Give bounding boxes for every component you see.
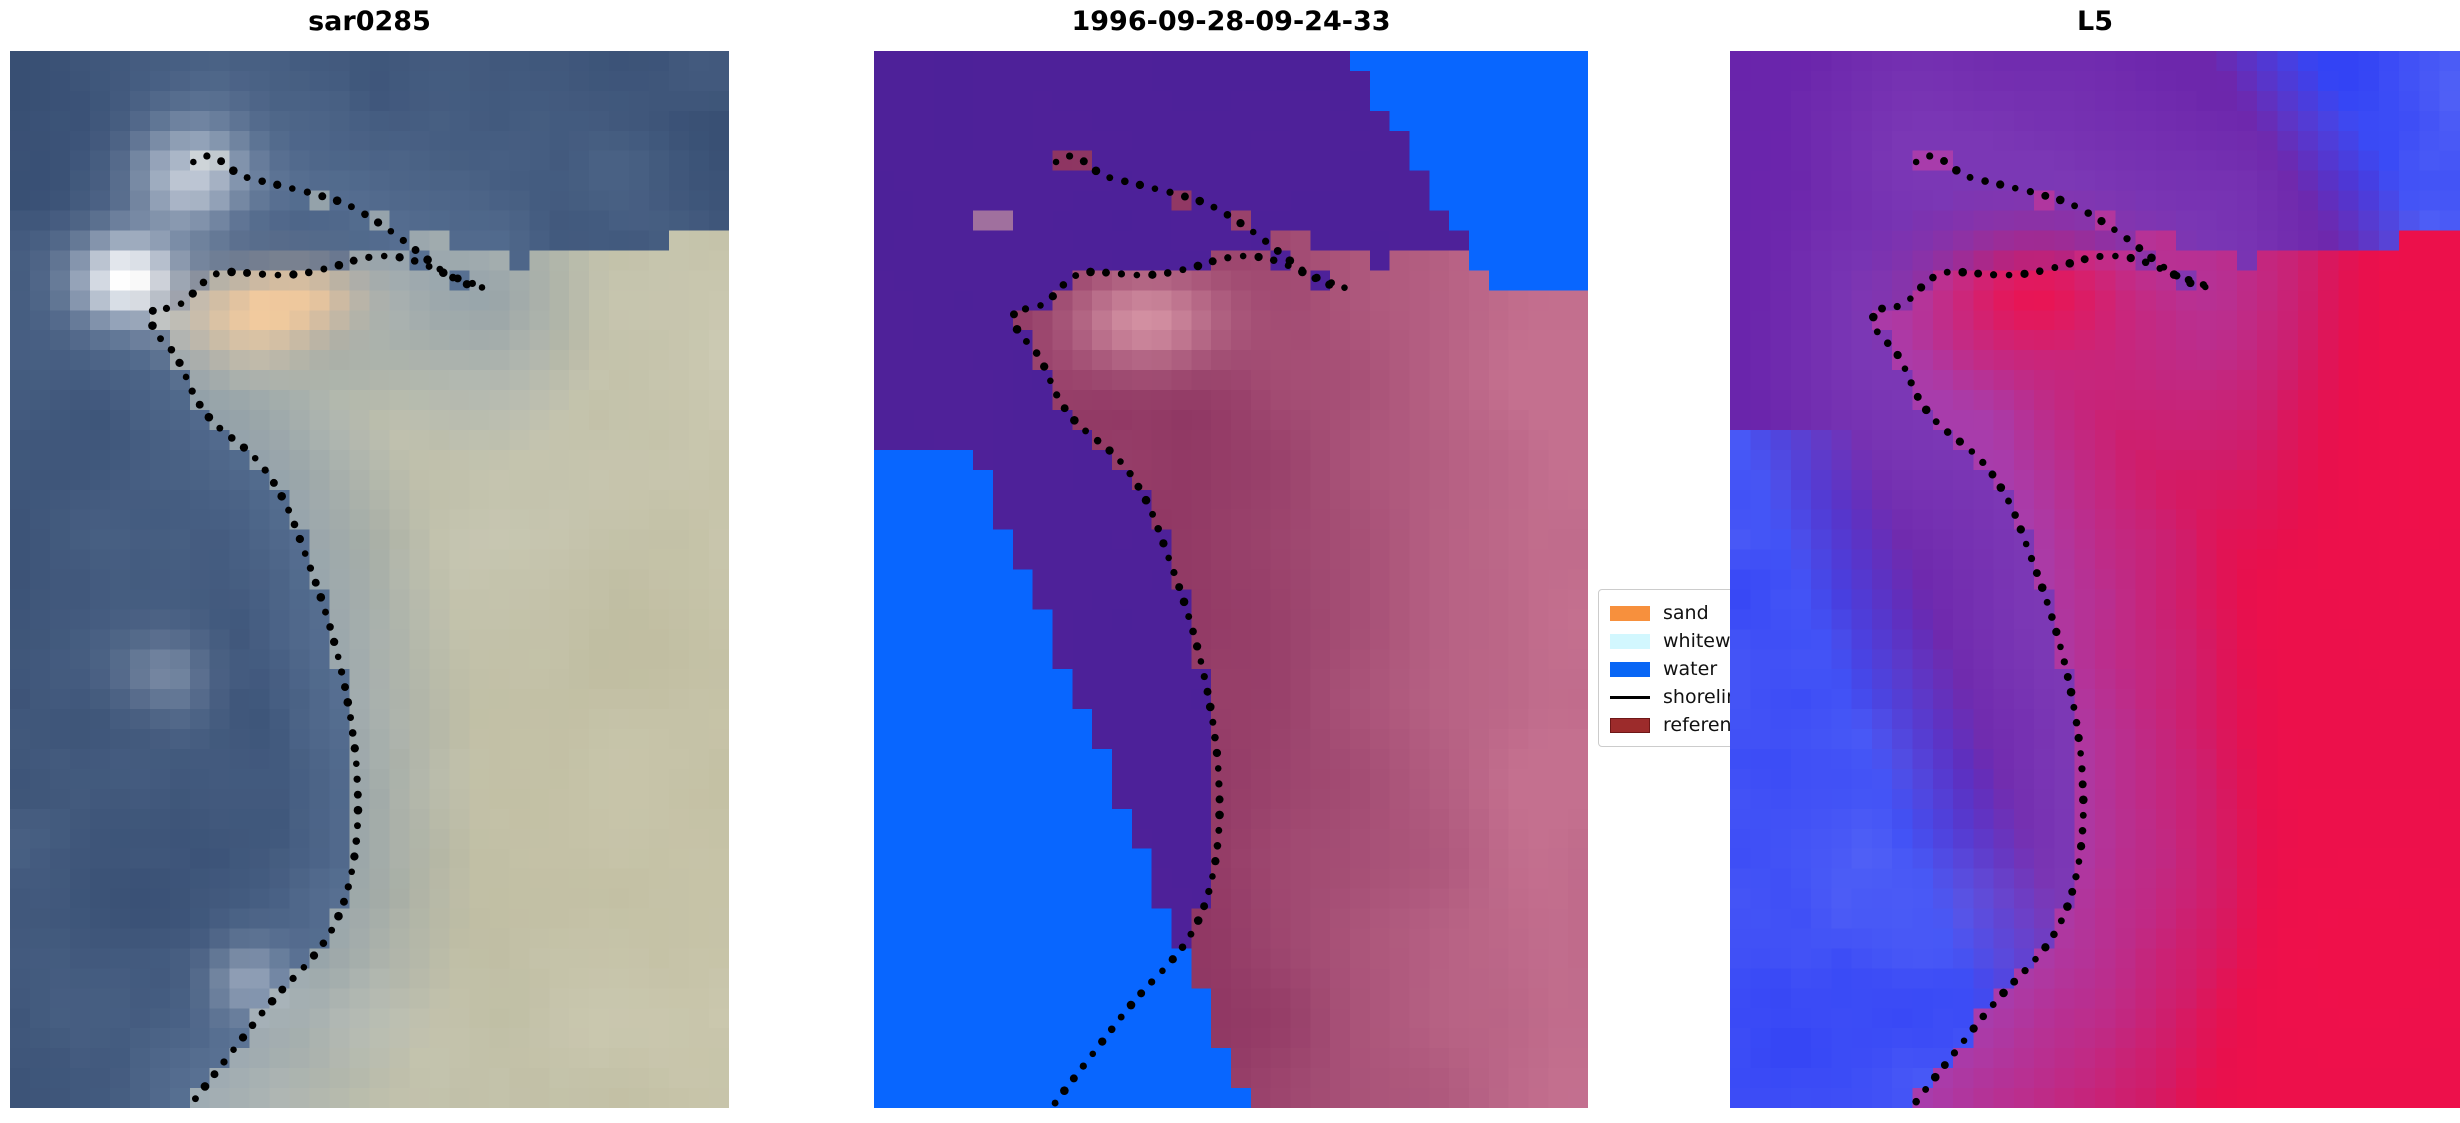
legend-item-shoreline[interactable]: shoreline [1610, 683, 1730, 711]
legend-label-whitewater: whitewater [1663, 632, 1730, 651]
panel-image-classification[interactable] [874, 51, 1588, 1108]
legend-swatch-sand [1610, 606, 1650, 621]
legend-box: sand whitewater water shoreline referenc… [1598, 589, 1730, 747]
panel-sar-rgb: sar0285 [10, 0, 729, 1108]
legend-swatch-reference [1610, 718, 1650, 733]
legend-swatch-whitewater [1610, 634, 1650, 649]
panel-title-l5: L5 [1730, 6, 2460, 37]
legend-item-whitewater[interactable]: whitewater [1610, 627, 1730, 655]
panel-image-l5[interactable] [1730, 51, 2460, 1108]
legend-label-shoreline: shoreline [1663, 688, 1730, 707]
legend-label-water: water [1663, 660, 1717, 679]
legend-swatch-water [1610, 662, 1650, 677]
legend-item-sand[interactable]: sand [1610, 599, 1730, 627]
panel-title-date: 1996-09-28-09-24-33 [874, 6, 1588, 37]
legend-label-reference: reference [1663, 716, 1730, 735]
figure-canvas: sar0285 1996-09-28-09-24-33 L5 sand [0, 0, 2460, 1123]
panel-title-sar0285: sar0285 [10, 6, 729, 37]
panel-image-sar0285[interactable] [10, 51, 729, 1108]
legend-item-reference[interactable]: reference [1610, 711, 1730, 739]
legend-label-sand: sand [1663, 604, 1709, 623]
legend-swatch-shoreline [1610, 690, 1650, 705]
raster-image-sar0285 [10, 51, 729, 1108]
legend: sand whitewater water shoreline referenc… [1588, 575, 1730, 760]
panel-l5: L5 [1730, 0, 2460, 1108]
panel-classification: 1996-09-28-09-24-33 [874, 0, 1588, 1108]
raster-image-classification [874, 51, 1588, 1108]
legend-item-water[interactable]: water [1610, 655, 1730, 683]
raster-image-l5 [1730, 51, 2460, 1108]
